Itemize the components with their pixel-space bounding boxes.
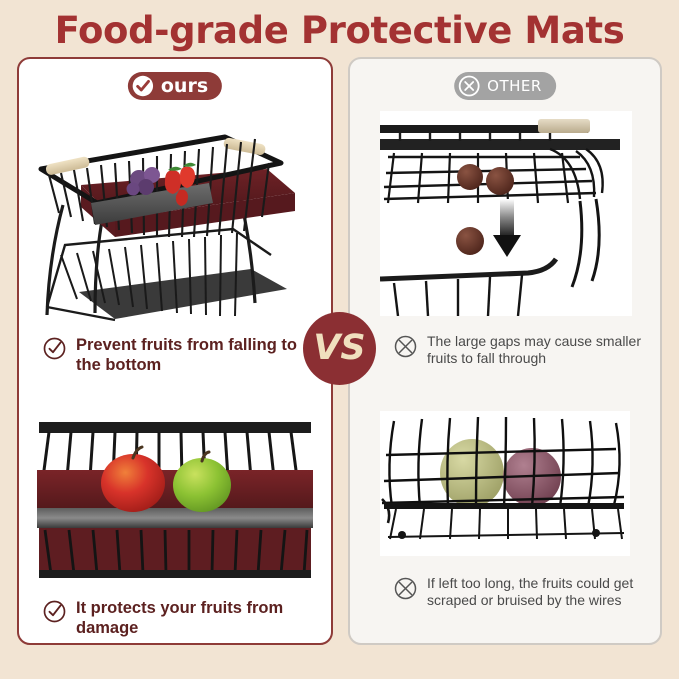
check-circle-icon (132, 75, 154, 97)
product-photo-ours-top (19, 107, 331, 322)
feature-ours-1: Prevent fruits from falling to the botto… (43, 335, 305, 375)
x-circle-icon (394, 577, 417, 600)
badge-ours: ours (128, 72, 222, 100)
x-circle-icon (394, 335, 417, 358)
feature-ours-2: It protects your fruits from damage (43, 598, 305, 638)
x-circle-icon (458, 75, 480, 97)
check-circle-icon (43, 337, 66, 360)
vs-badge: VS (303, 312, 376, 385)
feature-other-1: The large gaps may cause smaller fruits … (394, 333, 644, 367)
feature-ours-1-text: Prevent fruits from falling to the botto… (76, 335, 305, 375)
panel-ours: ours (17, 57, 333, 645)
badge-other: OTHER (454, 72, 556, 100)
panel-other: OTHER (348, 57, 662, 645)
feature-other-2-text: If left too long, the fruits could get s… (427, 575, 644, 609)
vs-badge-label: VS (313, 331, 365, 366)
product-photo-other-bottom (380, 411, 630, 556)
badge-other-label: OTHER (487, 77, 542, 96)
feature-ours-2-text: It protects your fruits from damage (76, 598, 305, 638)
product-photo-other-top (380, 111, 632, 316)
product-photo-ours-bottom (19, 404, 331, 584)
badge-ours-label: ours (161, 77, 208, 96)
page-title: Food-grade Protective Mats (0, 8, 679, 54)
feature-other-1-text: The large gaps may cause smaller fruits … (427, 333, 644, 367)
check-circle-icon (43, 600, 66, 623)
feature-other-2: If left too long, the fruits could get s… (394, 575, 644, 609)
